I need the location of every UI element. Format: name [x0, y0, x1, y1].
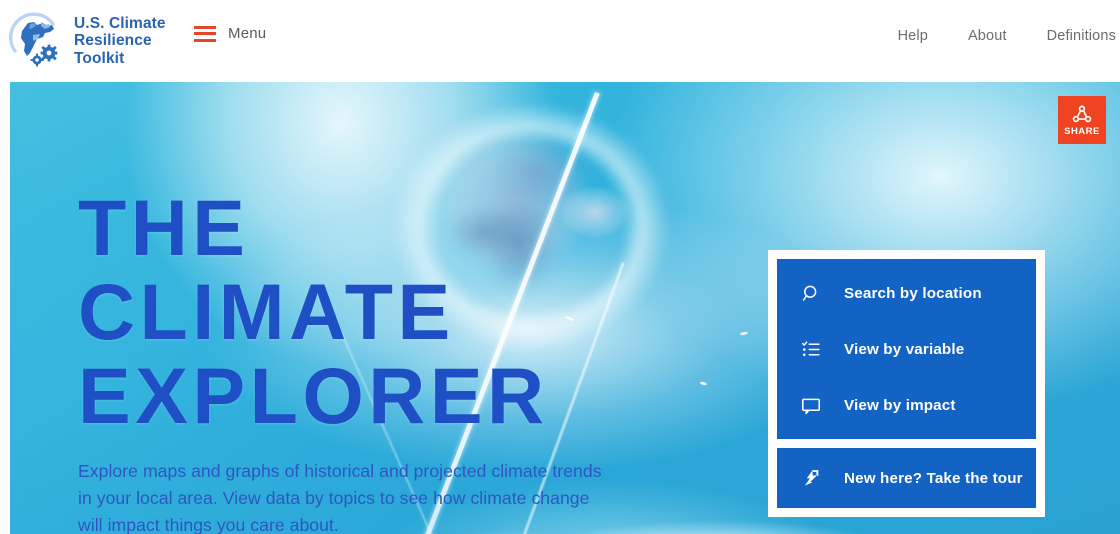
arrow-up-right-icon [798, 467, 824, 489]
action-label: Search by location [844, 285, 982, 302]
primary-actions-panel: Search by location View by variable [777, 259, 1036, 439]
checklist-icon [798, 339, 824, 360]
hero-subtitle: Explore maps and graphs of historical an… [78, 458, 602, 534]
site-header: U.S. Climate Resilience Toolkit Menu Hel… [0, 0, 1120, 82]
north-america-map-gears-icon [8, 10, 70, 72]
share-label: SHARE [1064, 127, 1100, 137]
top-navigation: Help About Definitions [858, 28, 1116, 44]
nav-link-definitions[interactable]: Definitions [1047, 28, 1116, 44]
menu-button[interactable]: Menu [194, 25, 266, 42]
share-button[interactable]: SHARE [1058, 96, 1106, 144]
nav-link-help[interactable]: Help [898, 28, 928, 44]
brand-logo[interactable]: U.S. Climate Resilience Toolkit [8, 6, 166, 76]
search-icon [798, 283, 824, 304]
hamburger-icon [194, 26, 216, 42]
action-search-by-location[interactable]: Search by location [777, 265, 1036, 321]
hero-banner: THE CLIMATE EXPLORER Explore maps and gr… [10, 82, 1120, 534]
hero-action-card: Search by location View by variable [768, 250, 1045, 517]
menu-label: Menu [228, 25, 266, 42]
page-title: THE CLIMATE EXPLORER [78, 186, 638, 438]
action-view-by-impact[interactable]: View by impact [777, 377, 1036, 433]
nav-link-about[interactable]: About [968, 28, 1007, 44]
share-nodes-icon [1071, 104, 1093, 127]
brand-title: U.S. Climate Resilience Toolkit [74, 15, 166, 68]
secondary-actions-panel: New here? Take the tour [777, 448, 1036, 508]
action-view-by-variable[interactable]: View by variable [777, 321, 1036, 377]
action-label: New here? Take the tour [844, 470, 1023, 487]
action-label: View by variable [844, 341, 964, 358]
chat-bubble-icon [798, 395, 824, 416]
hero-copy-block: THE CLIMATE EXPLORER Explore maps and gr… [78, 186, 638, 534]
action-label: View by impact [844, 397, 956, 414]
action-take-the-tour[interactable]: New here? Take the tour [777, 450, 1036, 506]
